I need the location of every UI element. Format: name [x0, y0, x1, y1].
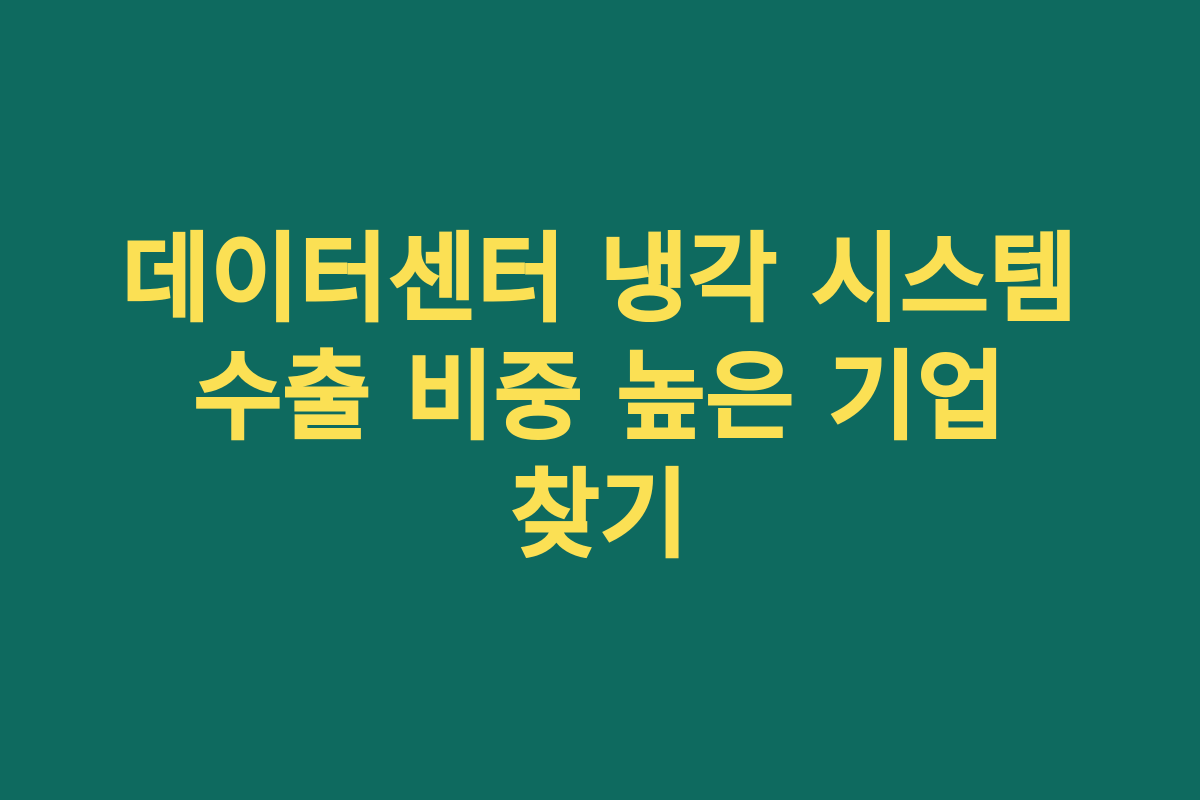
title-card: 데이터센터 냉각 시스템 수출 비중 높은 기업 찾기: [0, 0, 1200, 800]
page-title: 데이터센터 냉각 시스템 수출 비중 높은 기업 찾기: [95, 220, 1105, 574]
